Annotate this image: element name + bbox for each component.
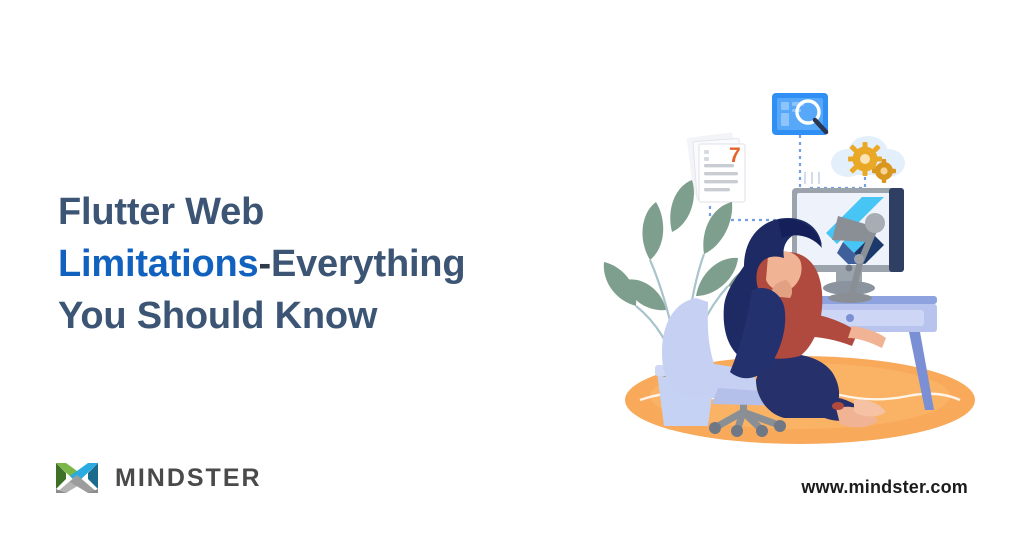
headline-line-2: Limitations-Everything [58, 238, 578, 290]
headline-dash: - [258, 243, 270, 285]
headline-line-3: You Should Know [58, 290, 578, 342]
brand-name: MINDSTER [115, 466, 262, 491]
headline-accent-word: Limitations [58, 243, 258, 285]
mindster-logo-icon [54, 459, 100, 497]
document-icon: 7 [687, 132, 745, 202]
document-badge-number: 7 [729, 144, 741, 167]
website-url[interactable]: www.mindster.com [801, 477, 968, 498]
brand-logo[interactable]: MINDSTER [54, 459, 262, 497]
hero-illustration: 7 [600, 60, 1000, 450]
headline-line-1: Flutter Web [58, 186, 578, 238]
search-card-icon [772, 93, 828, 135]
headline-line-2-rest: Everything [271, 243, 465, 285]
banner-root: Flutter Web Limitations-Everything You S… [0, 0, 1024, 538]
page-title: Flutter Web Limitations-Everything You S… [58, 186, 578, 342]
cloud-gears-icon [831, 136, 905, 183]
